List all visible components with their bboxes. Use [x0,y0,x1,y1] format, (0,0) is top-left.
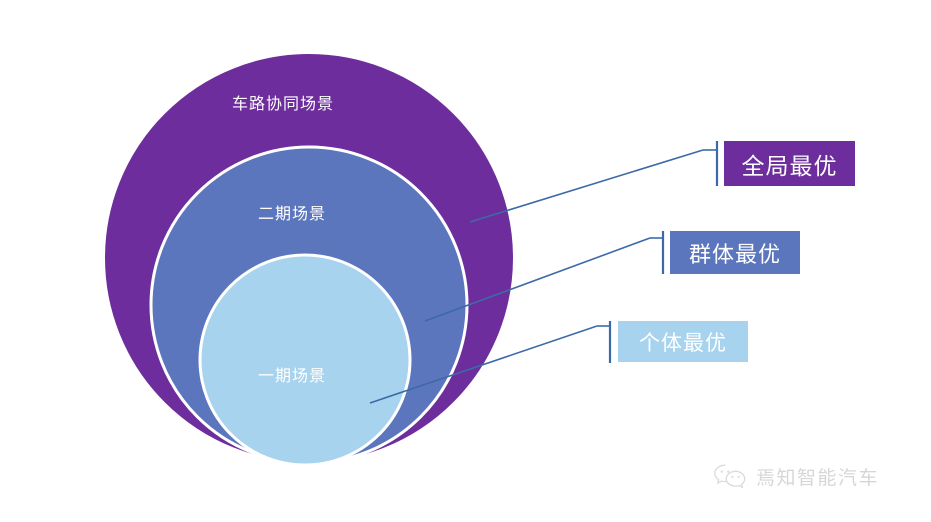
callout-badge-group: 群体最优 [670,231,800,274]
circle-inner-label: 一期场景 [258,362,326,386]
circle-middle-label: 二期场景 [258,200,326,224]
connector-global [470,141,718,222]
watermark: 焉知智能汽车 [713,462,879,490]
wechat-icon [713,462,747,490]
callout-badge-individual: 个体最优 [618,321,748,362]
diagram-canvas: 车路协同场景 二期场景 一期场景 全局最优 群体最优 个体最优 焉知智能汽车 [0,0,931,522]
circle-inner [200,255,410,465]
callout-badge-global: 全局最优 [724,141,855,186]
watermark-text: 焉知智能汽车 [756,463,879,490]
circle-outer-label: 车路协同场景 [232,90,334,114]
